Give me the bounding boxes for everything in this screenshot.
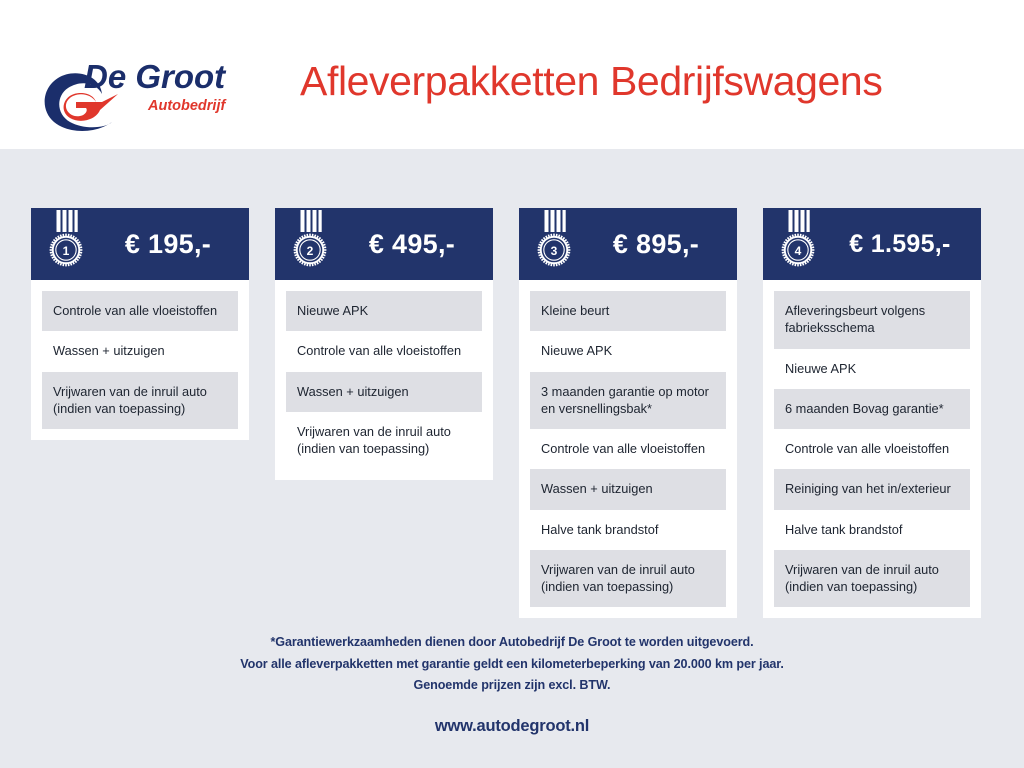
medal-icon: 2 xyxy=(287,204,333,276)
package-price: € 495,- xyxy=(341,229,493,260)
package-item: Vrijwaren van de inruil auto (indien van… xyxy=(530,550,726,608)
svg-text:4: 4 xyxy=(795,244,802,258)
footer-line-2: Voor alle afleverpakketten met garantie … xyxy=(0,654,1024,676)
de-groot-logo-icon: De Groot Autobedrijf xyxy=(40,52,252,144)
package-item: 3 maanden garantie op motor en versnelli… xyxy=(530,372,726,430)
package-item: Nieuwe APK xyxy=(530,331,726,371)
package-item-list: Afleveringsbeurt volgens fabrieksschemaN… xyxy=(763,280,981,607)
company-logo: De Groot Autobedrijf xyxy=(40,52,252,144)
svg-text:Autobedrijf: Autobedrijf xyxy=(147,98,227,114)
footer-line-1: *Garantiewerkzaamheden dienen door Autob… xyxy=(0,632,1024,654)
package-item: Controle van alle vloeistoffen xyxy=(530,429,726,469)
package-item: 6 maanden Bovag garantie* xyxy=(774,389,970,429)
package-item: Nieuwe APK xyxy=(774,349,970,389)
package-card[interactable]: 3€ 895,-Kleine beurtNieuwe APK3 maanden … xyxy=(519,208,737,618)
package-card-header: 2€ 495,- xyxy=(275,208,493,280)
package-card[interactable]: 1€ 195,-Controle van alle vloeistoffenWa… xyxy=(31,208,249,440)
package-card-header: 1€ 195,- xyxy=(31,208,249,280)
svg-text:2: 2 xyxy=(307,244,314,258)
package-item: Halve tank brandstof xyxy=(774,510,970,550)
svg-text:De Groot: De Groot xyxy=(84,58,227,95)
medal-icon: 4 xyxy=(775,204,821,276)
package-price: € 895,- xyxy=(585,229,737,260)
package-cards: 1€ 195,-Controle van alle vloeistoffenWa… xyxy=(31,208,993,618)
package-price: € 1.595,- xyxy=(829,230,981,259)
website-link[interactable]: www.autodegroot.nl xyxy=(0,717,1024,736)
footer-line-3: Genoemde prijzen zijn excl. BTW. xyxy=(0,675,1024,697)
poster-root: De Groot Autobedrijf Afleverpakketten Be… xyxy=(0,0,1024,768)
package-item: Vrijwaren van de inruil auto (indien van… xyxy=(286,412,482,470)
package-item: Wassen + uitzuigen xyxy=(286,372,482,412)
svg-text:3: 3 xyxy=(551,244,558,258)
package-card[interactable]: 2€ 495,-Nieuwe APKControle van alle vloe… xyxy=(275,208,493,480)
page-header: De Groot Autobedrijf Afleverpakketten Be… xyxy=(0,0,1024,149)
package-item: Reiniging van het in/exterieur xyxy=(774,469,970,509)
svg-text:1: 1 xyxy=(63,244,70,258)
package-item-list: Kleine beurtNieuwe APK3 maanden garantie… xyxy=(519,280,737,607)
package-item: Afleveringsbeurt volgens fabrieksschema xyxy=(774,291,970,349)
package-item: Kleine beurt xyxy=(530,291,726,331)
package-item: Controle van alle vloeistoffen xyxy=(774,429,970,469)
package-item: Controle van alle vloeistoffen xyxy=(286,331,482,371)
package-price: € 195,- xyxy=(97,229,249,260)
package-item: Wassen + uitzuigen xyxy=(42,331,238,371)
page-footer: *Garantiewerkzaamheden dienen door Autob… xyxy=(0,632,1024,736)
package-item: Halve tank brandstof xyxy=(530,510,726,550)
package-item: Vrijwaren van de inruil auto (indien van… xyxy=(42,372,238,430)
page-title: Afleverpakketten Bedrijfswagens xyxy=(300,58,882,105)
package-item: Controle van alle vloeistoffen xyxy=(42,291,238,331)
package-item-list: Nieuwe APKControle van alle vloeistoffen… xyxy=(275,280,493,469)
package-card[interactable]: 4€ 1.595,-Afleveringsbeurt volgens fabri… xyxy=(763,208,981,618)
package-card-header: 3€ 895,- xyxy=(519,208,737,280)
package-item: Nieuwe APK xyxy=(286,291,482,331)
package-card-header: 4€ 1.595,- xyxy=(763,208,981,280)
medal-icon: 1 xyxy=(43,204,89,276)
package-item: Vrijwaren van de inruil auto (indien van… xyxy=(774,550,970,608)
medal-icon: 3 xyxy=(531,204,577,276)
package-item: Wassen + uitzuigen xyxy=(530,469,726,509)
package-item-list: Controle van alle vloeistoffenWassen + u… xyxy=(31,280,249,429)
